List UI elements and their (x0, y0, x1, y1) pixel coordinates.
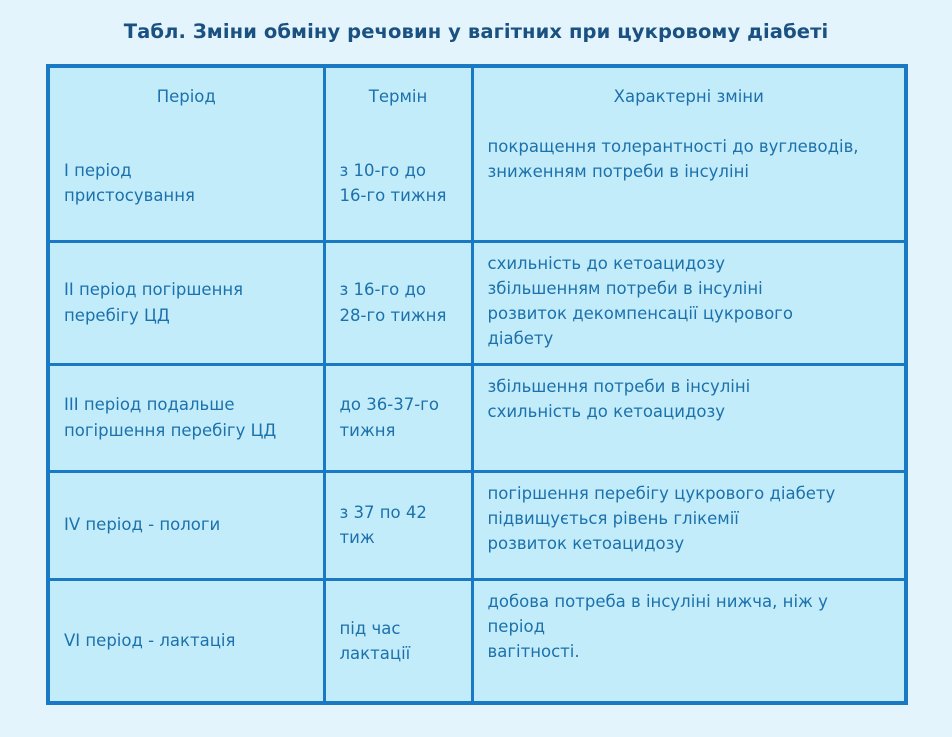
cell-changes: добова потреба в інсуліні нижча, ніж у п… (472, 579, 904, 701)
period-line: II період погіршення (64, 277, 309, 302)
table-header: Період Термін Характерні зміни (50, 68, 904, 126)
term-line: під час (340, 616, 457, 641)
period-line: погіршення перебігу ЦД (64, 418, 309, 443)
term-line: лактації (340, 641, 457, 666)
changes-line: розвиток декомпенсації цукрового (488, 301, 891, 326)
table-row: VI період - лактація під час лактації до… (50, 579, 904, 701)
cell-term: з 10-го до 16-го тижня (324, 126, 472, 241)
table-header-row: Період Термін Характерні зміни (50, 68, 904, 126)
term-line: з 37 по 42 (340, 500, 457, 525)
changes-line: покращення толерантності до вуглеводів, (488, 134, 891, 159)
cell-changes: покращення толерантності до вуглеводів, … (472, 126, 904, 241)
metabolism-changes-table: Період Термін Характерні зміни I період … (50, 68, 904, 701)
table-container: Період Термін Характерні зміни I період … (46, 64, 908, 705)
changes-line: добова потреба в інсуліні нижча, ніж у (488, 589, 891, 614)
cell-term: до 36-37-го тижня (324, 364, 472, 471)
term-line: тиж (340, 525, 457, 550)
changes-line: збільшення потреби в інсуліні (488, 374, 891, 399)
changes-line: схильність до кетоацидозу (488, 399, 891, 424)
changes-line: зниженням потреби в інсуліні (488, 159, 891, 184)
cell-changes: схильність до кетоацидозу збільшенням по… (472, 241, 904, 364)
period-line: пристосування (64, 183, 309, 208)
table-row: II період погіршення перебігу ЦД з 16-го… (50, 241, 904, 364)
changes-line: розвиток кетоацидозу (488, 531, 891, 556)
period-line: I період (64, 158, 309, 183)
cell-period: VI період - лактація (50, 579, 324, 701)
column-header-period: Період (50, 68, 324, 126)
column-header-changes: Характерні зміни (472, 68, 904, 126)
changes-line: вагітності. (488, 639, 891, 664)
term-line: з 16-го до (340, 277, 457, 302)
cell-changes: збільшення потреби в інсуліні схильність… (472, 364, 904, 471)
cell-term: з 37 по 42 тиж (324, 471, 472, 579)
period-line: III період подальше (64, 392, 309, 417)
cell-period: III період подальше погіршення перебігу … (50, 364, 324, 471)
changes-line: погіршення перебігу цукрового діабету (488, 481, 891, 506)
document-page: Табл. Зміни обміну речовин у вагітних пр… (0, 0, 952, 737)
term-line: тижня (340, 418, 457, 443)
cell-term: під час лактації (324, 579, 472, 701)
table-row: I період пристосування з 10-го до 16-го … (50, 126, 904, 241)
cell-changes: погіршення перебігу цукрового діабету пі… (472, 471, 904, 579)
changes-line: підвищується рівень глікемії (488, 506, 891, 531)
term-line: до 36-37-го (340, 392, 457, 417)
page-title: Табл. Зміни обміну речовин у вагітних пр… (0, 20, 952, 43)
table-body: I період пристосування з 10-го до 16-го … (50, 126, 904, 701)
changes-line: період (488, 614, 891, 639)
cell-period: IV період - пологи (50, 471, 324, 579)
changes-line: збільшенням потреби в інсуліні (488, 276, 891, 301)
period-line: перебігу ЦД (64, 303, 309, 328)
column-header-term: Термін (324, 68, 472, 126)
term-line: з 10-го до (340, 158, 457, 183)
term-line: 28-го тижня (340, 303, 457, 328)
cell-period: I період пристосування (50, 126, 324, 241)
cell-period: II період погіршення перебігу ЦД (50, 241, 324, 364)
period-line: IV період - пологи (64, 512, 309, 537)
period-line: VI період - лактація (64, 628, 309, 653)
changes-line: діабету (488, 326, 891, 351)
changes-line: схильність до кетоацидозу (488, 251, 891, 276)
term-line: 16-го тижня (340, 183, 457, 208)
table-row: IV період - пологи з 37 по 42 тиж погірш… (50, 471, 904, 579)
table-row: III період подальше погіршення перебігу … (50, 364, 904, 471)
cell-term: з 16-го до 28-го тижня (324, 241, 472, 364)
